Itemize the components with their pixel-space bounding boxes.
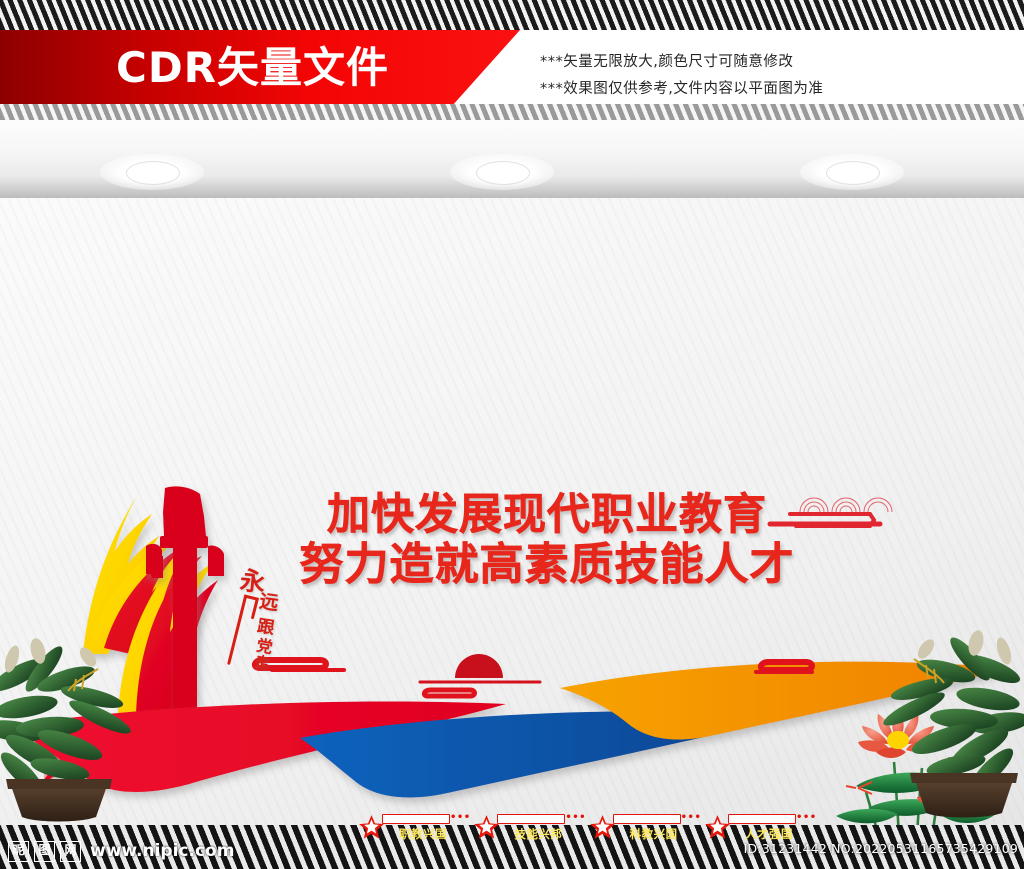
slogan-badge: ••• 人才强国: [704, 814, 808, 844]
potted-plant-left: [0, 635, 150, 825]
badge-bar: [728, 814, 796, 824]
ceiling-light-icon: [800, 154, 904, 190]
star-icon: [589, 814, 616, 840]
poster-canvas: CDR矢量文件 ***矢量无限放大,颜色尺寸可随意修改 ***效果图仅供参考,文…: [0, 0, 1024, 869]
nipic-logo[interactable]: 昵 图 网 www.nipic.com: [8, 840, 234, 862]
top-hatch-strip: [0, 0, 1024, 30]
slogan-badge: ••• 职教兴国: [358, 814, 462, 844]
badge-dots-icon: •••: [565, 815, 586, 821]
vector-notes: ***矢量无限放大,颜色尺寸可随意修改 ***效果图仅供参考,文件内容以平面图为…: [540, 49, 1010, 103]
potted-plant-right: [874, 625, 1024, 825]
logo-char: 图: [34, 841, 55, 862]
wall-surface: 加快发展现代职业教育 努力造就高素质技能人才 永 远 跟 党 走 •••: [0, 198, 1024, 825]
star-icon: [358, 814, 385, 840]
star-icon: [473, 814, 500, 840]
slogan-badge: ••• 技能兴邦: [473, 814, 577, 844]
calligraphy-char: 走: [253, 651, 271, 674]
star-icon: [704, 814, 731, 840]
logo-char: 网: [60, 841, 81, 862]
ceiling: [0, 120, 1024, 198]
note-line-1: ***矢量无限放大,颜色尺寸可随意修改: [540, 49, 1010, 76]
badge-dots-icon: •••: [796, 815, 817, 821]
badge-bar: [382, 814, 450, 824]
badge-dots-icon: •••: [450, 815, 471, 821]
badge-label: 技能兴邦: [501, 826, 575, 842]
banner-bottom-hatch-strip: [0, 104, 1024, 120]
cloud-pattern-top-right: [770, 498, 892, 526]
wall-mural: 加快发展现代职业教育 努力造就高素质技能人才 永 远 跟 党 走 •••: [0, 396, 1024, 826]
badge-bar: [497, 814, 565, 824]
badge-label: 科教兴国: [617, 826, 691, 842]
logo-char: 昵: [8, 841, 29, 862]
slogan-badge: ••• 科教兴国: [589, 814, 693, 844]
sunrise-icon: [420, 654, 540, 696]
cdr-banner: CDR矢量文件: [0, 30, 520, 106]
ceiling-light-icon: [450, 154, 554, 190]
banner-title: CDR矢量文件: [116, 47, 389, 89]
nipic-url[interactable]: www.nipic.com: [90, 841, 234, 861]
badge-bar: [613, 814, 681, 824]
cloud-pattern-right: [756, 662, 812, 672]
ceiling-light-icon: [100, 154, 204, 190]
badge-dots-icon: •••: [681, 815, 702, 821]
badge-label: 职教兴国: [386, 826, 460, 842]
mural-graphics: [0, 396, 1024, 826]
note-line-2: ***效果图仅供参考,文件内容以平面图为准: [540, 76, 1010, 103]
badge-label: 人才强国: [732, 826, 806, 842]
footer-image-id: ID:31231442 NO:20220531165735429109: [744, 841, 1018, 856]
